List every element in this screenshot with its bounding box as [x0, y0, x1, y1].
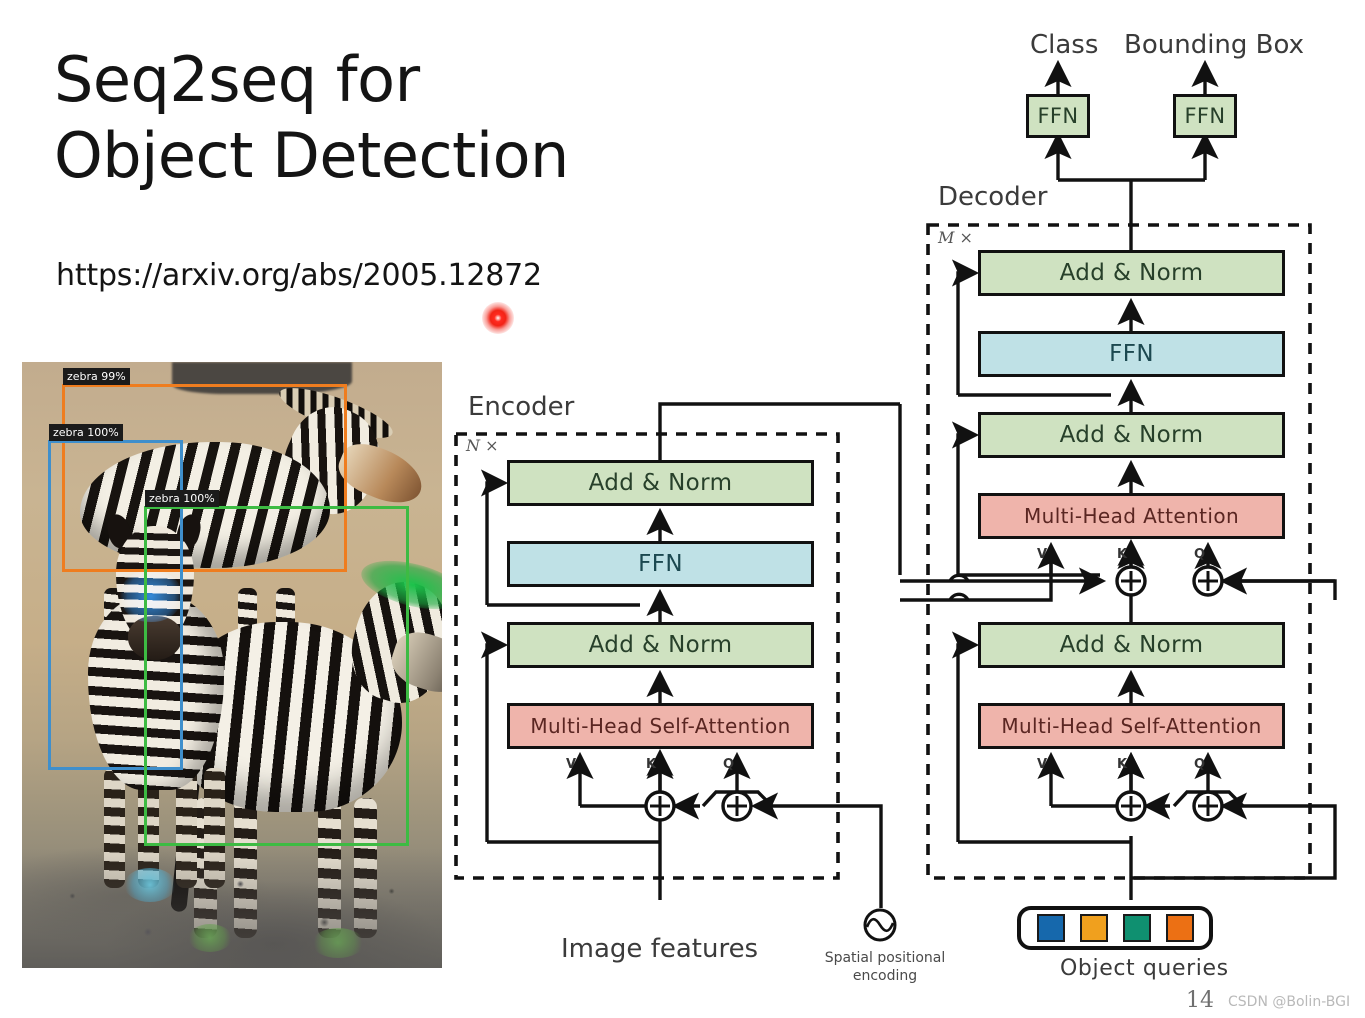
object-query-swatch-2[interactable]	[1080, 914, 1108, 942]
ffn-class-head[interactable]: FFN	[1026, 94, 1090, 138]
page-number: 14	[1186, 988, 1214, 1013]
decoder-add-norm-bottom[interactable]: Add & Norm	[978, 622, 1285, 668]
detection-result-image: zebra 99% zebra 100% zebra 100%	[22, 362, 442, 968]
decoder-cross-q-label: Q	[1194, 547, 1205, 562]
detection-label-orange: zebra 99%	[63, 368, 130, 385]
spatial-positional-encoding-icon	[863, 908, 897, 942]
image-features-label: Image features	[561, 934, 758, 964]
decoder-add-norm-top[interactable]: Add & Norm	[978, 250, 1285, 296]
decoder-add-norm-middle[interactable]: Add & Norm	[978, 412, 1285, 458]
output-label-bounding-box: Bounding Box	[1124, 30, 1304, 60]
decoder-ffn[interactable]: FFN	[978, 331, 1285, 377]
ffn-bbox-head[interactable]: FFN	[1173, 94, 1237, 138]
encoder-add-norm-bottom[interactable]: Add & Norm	[507, 622, 814, 668]
detection-label-green: zebra 100%	[145, 490, 219, 507]
background-gravel	[22, 848, 442, 968]
encoder-title: Encoder	[468, 392, 574, 422]
page-title: Seq2seq for Object Detection	[54, 42, 754, 193]
spe-line-1: Spatial positional	[825, 950, 946, 966]
encoder-repeat-count: N ×	[466, 436, 499, 455]
watermark: CSDN @Bolin-BGI	[1228, 994, 1350, 1010]
page-title-line-2: Object Detection	[54, 118, 754, 194]
encoder-ffn[interactable]: FFN	[507, 541, 814, 587]
decoder-title: Decoder	[938, 182, 1047, 212]
encoder-q-label: Q	[723, 757, 734, 772]
output-label-class: Class	[1030, 30, 1098, 60]
object-query-swatch-4[interactable]	[1166, 914, 1194, 942]
detection-box-green: zebra 100%	[144, 506, 409, 846]
detection-label-blue: zebra 100%	[49, 424, 123, 441]
encoder-v-label: V	[566, 757, 576, 772]
decoder-multi-head-self-attention[interactable]: Multi-Head Self-Attention	[978, 703, 1285, 749]
spe-line-2: encoding	[853, 968, 917, 984]
decoder-cross-v-label: V	[1037, 547, 1047, 562]
decoder-self-q-label: Q	[1194, 757, 1205, 772]
object-queries-box[interactable]	[1017, 906, 1213, 950]
object-query-swatch-3[interactable]	[1123, 914, 1151, 942]
decoder-multi-head-attention[interactable]: Multi-Head Attention	[978, 493, 1285, 539]
object-queries-label: Object queries	[1060, 956, 1229, 981]
decoder-self-v-label: V	[1037, 757, 1047, 772]
encoder-multi-head-self-attention[interactable]: Multi-Head Self-Attention	[507, 703, 814, 749]
decoder-cross-k-label: K	[1117, 547, 1127, 562]
paper-url-link[interactable]: https://arxiv.org/abs/2005.12872	[56, 258, 542, 293]
encoder-add-norm-top[interactable]: Add & Norm	[507, 460, 814, 506]
object-query-swatch-1[interactable]	[1037, 914, 1065, 942]
laser-pointer-dot	[482, 302, 514, 334]
spatial-positional-encoding-label: Spatial positional encoding	[824, 950, 946, 985]
decoder-self-k-label: K	[1117, 757, 1127, 772]
page-title-line-1: Seq2seq for	[54, 43, 420, 116]
decoder-repeat-count: M ×	[938, 228, 973, 247]
encoder-k-label: K	[646, 757, 656, 772]
